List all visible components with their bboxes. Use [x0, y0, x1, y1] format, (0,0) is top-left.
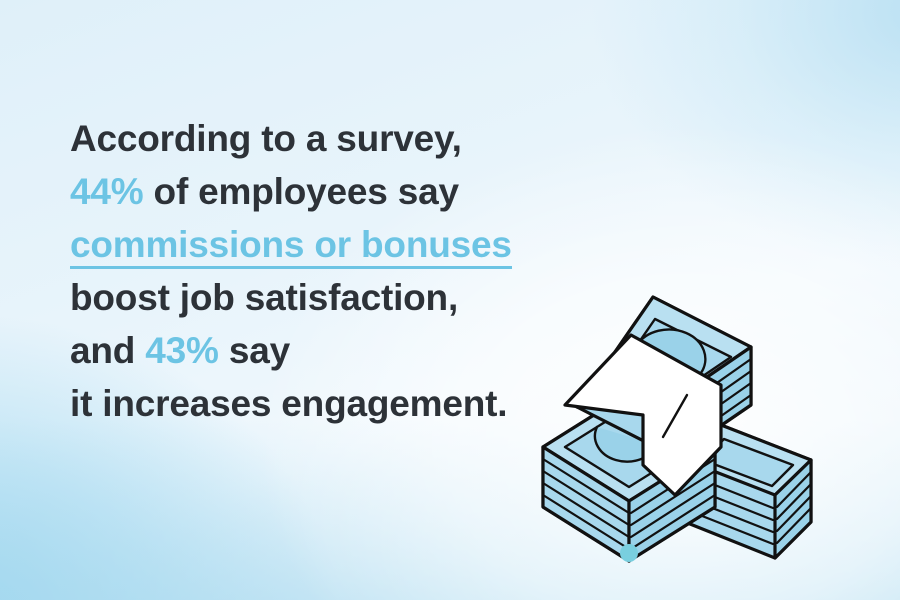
- headline-line-1: According to a survey,: [70, 112, 540, 165]
- commissions-or-bonuses-link[interactable]: commissions or bonuses: [70, 218, 512, 271]
- headline-line-2: 44% of employees say: [70, 165, 540, 218]
- infographic-card: According to a survey, 44% of employees …: [0, 0, 900, 600]
- stat-value-44: 44%: [70, 171, 143, 212]
- headline-segment: of employees say: [143, 171, 458, 212]
- stat-value-43: 43%: [145, 330, 218, 371]
- headline-segment: it increases engagement.: [70, 383, 507, 424]
- headline-segment: and: [70, 330, 145, 371]
- headline-segment: say: [219, 330, 290, 371]
- headline-text-block: According to a survey, 44% of employees …: [70, 112, 540, 430]
- headline-line-3: commissions or bonuses: [70, 218, 540, 271]
- teal-accent-dot: [620, 544, 638, 562]
- headline-line-6: it increases engagement.: [70, 377, 540, 430]
- headline-line-5: and 43% say: [70, 324, 540, 377]
- headline-segment: boost job satisfaction,: [70, 277, 458, 318]
- headline-line-4: boost job satisfaction,: [70, 271, 540, 324]
- cash-stacks-icon: [525, 275, 835, 565]
- stacked-cash-illustration: [525, 275, 835, 565]
- headline-segment: According to a survey,: [70, 118, 462, 159]
